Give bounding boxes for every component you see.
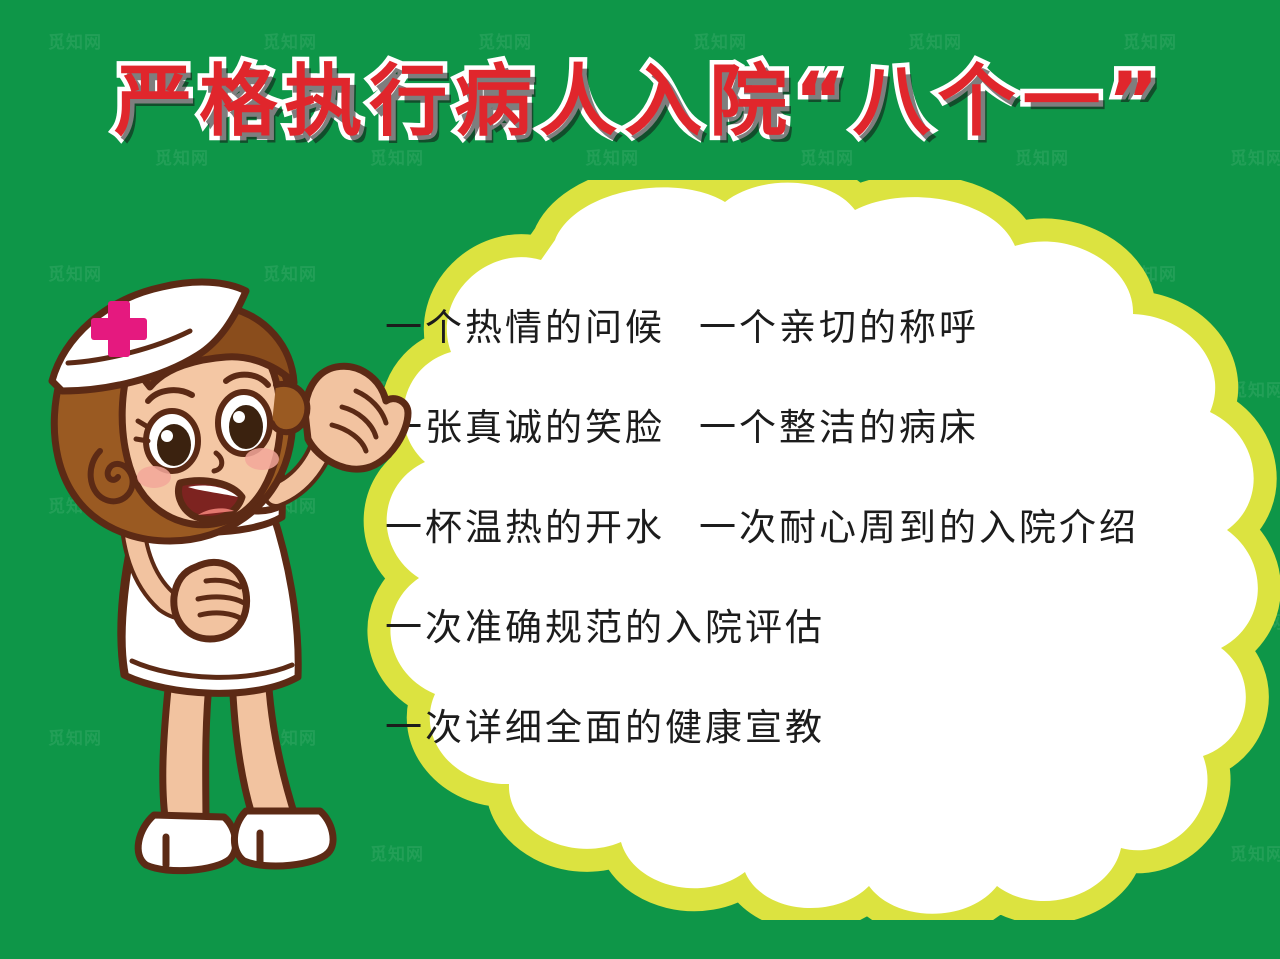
slogan-left: 一次准确规范的入院评估 [385,606,825,649]
watermark-text: 觅知网 [1015,144,1069,169]
watermark-text: 觅知网 [263,28,317,53]
watermark-text: 觅知网 [155,144,209,169]
slogan-right: 一次耐心周到的入院介绍 [699,506,1139,549]
watermark-text: 觅知网 [908,28,962,53]
poster-canvas: 觅知网觅知网觅知网觅知网觅知网觅知网觅知网觅知网觅知网觅知网觅知网觅知网觅知网觅… [0,0,1280,959]
watermark-text: 觅知网 [800,144,854,169]
slogan-right: 一个亲切的称呼 [699,306,979,349]
watermark-text: 觅知网 [693,28,747,53]
slogan-right: 一个整洁的病床 [699,406,979,449]
slogan-left: 一次详细全面的健康宣教 [385,706,825,749]
watermark-text: 觅知网 [1123,28,1177,53]
slogan-left: 一杯温热的开水 [385,506,665,549]
watermark-text: 觅知网 [370,144,424,169]
slogan-left: 一张真诚的笑脸 [385,406,665,449]
list-item: 一次准确规范的入院评估 [385,600,1215,700]
list-item: 一个热情的问候一个亲切的称呼 [385,300,1215,400]
nurse-illustration [20,215,420,875]
watermark-text: 觅知网 [48,28,102,53]
list-item: 一次详细全面的健康宣教 [385,700,1215,800]
slogan-list: 一个热情的问候一个亲切的称呼 一张真诚的笑脸一个整洁的病床 一杯温热的开水一次耐… [385,300,1215,800]
watermark-text: 觅知网 [478,28,532,53]
list-item: 一杯温热的开水一次耐心周到的入院介绍 [385,500,1215,600]
page-title: 严格执行病人入院“八个一” [114,62,1166,144]
watermark-text: 觅知网 [1230,144,1280,169]
watermark-text: 觅知网 [585,144,639,169]
list-item: 一张真诚的笑脸一个整洁的病床 [385,400,1215,500]
page-title-container: 严格执行病人入院“八个一” [0,62,1280,144]
slogan-left: 一个热情的问候 [385,306,665,349]
